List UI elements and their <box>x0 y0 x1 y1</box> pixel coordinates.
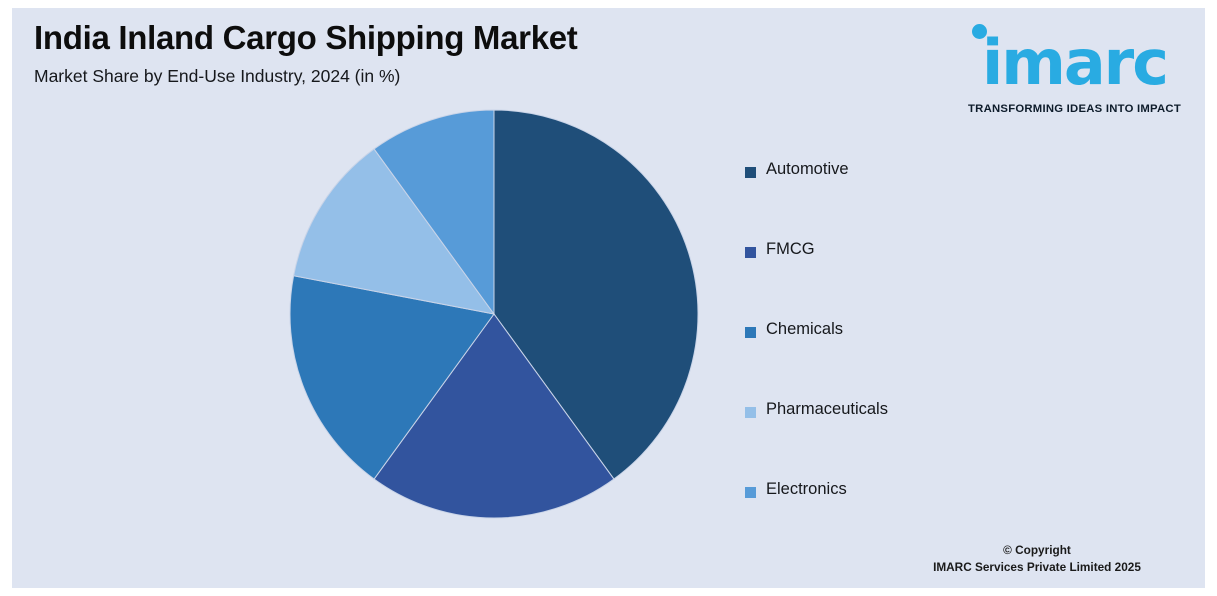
legend-item-pharmaceuticals[interactable]: Pharmaceuticals <box>745 403 1005 483</box>
pie-chart <box>288 108 700 520</box>
legend-item-automotive[interactable]: Automotive <box>745 163 1005 243</box>
page-subtitle: Market Share by End-Use Industry, 2024 (… <box>34 64 734 88</box>
legend-item-chemicals[interactable]: Chemicals <box>745 323 1005 403</box>
legend-label: Pharmaceuticals <box>766 400 888 419</box>
legend-swatch-icon <box>745 487 756 498</box>
imarc-logo: imarc TRANSFORMING IDEAS INTO IMPACT <box>952 16 1197 121</box>
pie-chart-svg <box>288 108 700 520</box>
logo-mark: imarc <box>952 16 1197 94</box>
page-title: India Inland Cargo Shipping Market <box>34 18 734 58</box>
legend-swatch-icon <box>745 167 756 178</box>
legend-label: Electronics <box>766 480 847 499</box>
chart-legend: AutomotiveFMCGChemicalsPharmaceuticalsEl… <box>745 163 1005 563</box>
copyright-line-1: © Copyright <box>877 542 1197 559</box>
header-block: India Inland Cargo Shipping Market Marke… <box>34 18 734 88</box>
legend-label: FMCG <box>766 240 815 259</box>
legend-swatch-icon <box>745 247 756 258</box>
infographic-root: India Inland Cargo Shipping Market Marke… <box>0 0 1217 596</box>
legend-swatch-icon <box>745 327 756 338</box>
logo-wordmark: imarc <box>952 32 1197 94</box>
legend-swatch-icon <box>745 407 756 418</box>
copyright-line-2: IMARC Services Private Limited 2025 <box>877 559 1197 576</box>
legend-item-fmcg[interactable]: FMCG <box>745 243 1005 323</box>
legend-label: Chemicals <box>766 320 843 339</box>
legend-label: Automotive <box>766 160 849 179</box>
chart-canvas: India Inland Cargo Shipping Market Marke… <box>12 8 1205 588</box>
copyright-notice: © Copyright IMARC Services Private Limit… <box>877 542 1197 576</box>
logo-tagline: TRANSFORMING IDEAS INTO IMPACT <box>952 103 1197 115</box>
